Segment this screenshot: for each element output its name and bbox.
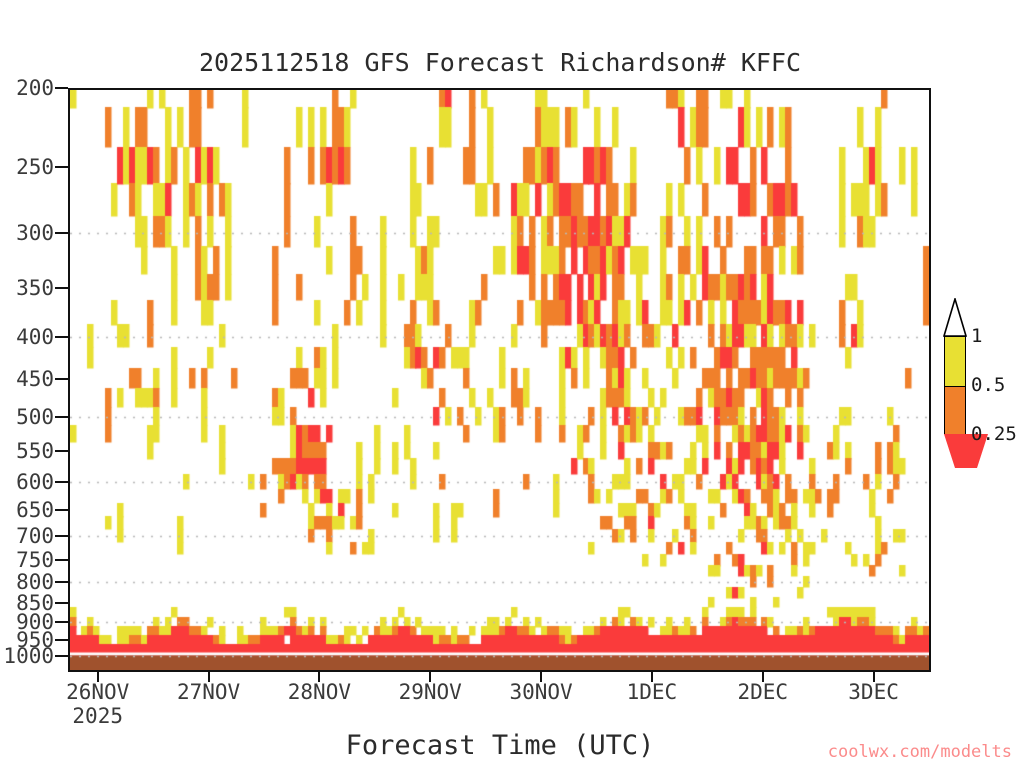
x-tick-label: 30NOV [509, 680, 572, 704]
plot-area [68, 88, 931, 672]
y-tick-label: 300 [16, 221, 54, 245]
y-tick-label: 200 [16, 76, 54, 100]
x-tick-label: 1DEC [627, 680, 678, 704]
y-tick-mark [55, 655, 68, 657]
y-tick-label: 350 [16, 276, 54, 300]
y-tick-label: 500 [16, 405, 54, 429]
y-tick-mark [55, 481, 68, 483]
x-tick-label: 26NOV [66, 680, 129, 704]
y-tick-mark [55, 416, 68, 418]
legend-colorbar: 10.50.25 [938, 298, 1024, 468]
y-tick-label: 700 [16, 524, 54, 548]
x-tick-label: 2DEC [737, 680, 788, 704]
y-tick-mark [55, 287, 68, 289]
x-tick-label: 29NOV [399, 680, 462, 704]
x-tick-label: 3DEC [848, 680, 899, 704]
y-tick-label: 400 [16, 325, 54, 349]
y-tick-mark [55, 535, 68, 537]
y-tick-mark [55, 559, 68, 561]
y-tick-mark [55, 509, 68, 511]
chart-title-text: 2025112518 GFS Forecast Richardson# KFFC [199, 48, 801, 77]
colorbar-segment [945, 386, 965, 436]
y-tick-mark [55, 639, 68, 641]
y-tick-mark [55, 378, 68, 380]
x-axis-title-text: Forecast Time (UTC) [346, 730, 655, 761]
page-title: 2025112518 GFS Forecast Richardson# KFFC [0, 48, 1024, 77]
y-tick-label: 650 [16, 498, 54, 522]
y-tick-mark [55, 450, 68, 452]
x-tick-label: 27NOV [177, 680, 240, 704]
y-tick-label: 750 [16, 548, 54, 572]
y-tick-label: 450 [16, 367, 54, 391]
x-tick-label: 28NOV [288, 680, 351, 704]
y-tick-mark [55, 87, 68, 89]
y-axis: 2002503003504004505005506006507007508008… [0, 0, 68, 768]
colorbar-segment [945, 337, 965, 386]
colorbar-tick-label: 0.5 [971, 374, 1005, 396]
colorbar-bar [944, 336, 966, 434]
y-tick-mark [55, 621, 68, 623]
x-axis: 26NOV27NOV28NOV29NOV30NOV1DEC2DEC3DEC202… [0, 674, 1024, 734]
y-tick-label: 600 [16, 470, 54, 494]
y-tick-mark [55, 602, 68, 604]
y-tick-label: 1000 [3, 644, 54, 668]
colorbar-tick-label: 0.25 [971, 423, 1017, 445]
chart-root: 2025112518 GFS Forecast Richardson# KFFC… [0, 0, 1024, 768]
y-tick-mark [55, 166, 68, 168]
y-tick-mark [55, 232, 68, 234]
colorbar-over-arrow-outline [943, 298, 967, 338]
colorbar-tick-label: 1 [971, 325, 982, 347]
watermark: coolwx.com/modelts [828, 742, 1012, 762]
heatmap-canvas [70, 90, 929, 670]
y-tick-mark [55, 581, 68, 583]
y-tick-label: 550 [16, 439, 54, 463]
y-tick-mark [55, 336, 68, 338]
y-tick-label: 250 [16, 155, 54, 179]
x-axis-year-label: 2025 [72, 704, 123, 728]
